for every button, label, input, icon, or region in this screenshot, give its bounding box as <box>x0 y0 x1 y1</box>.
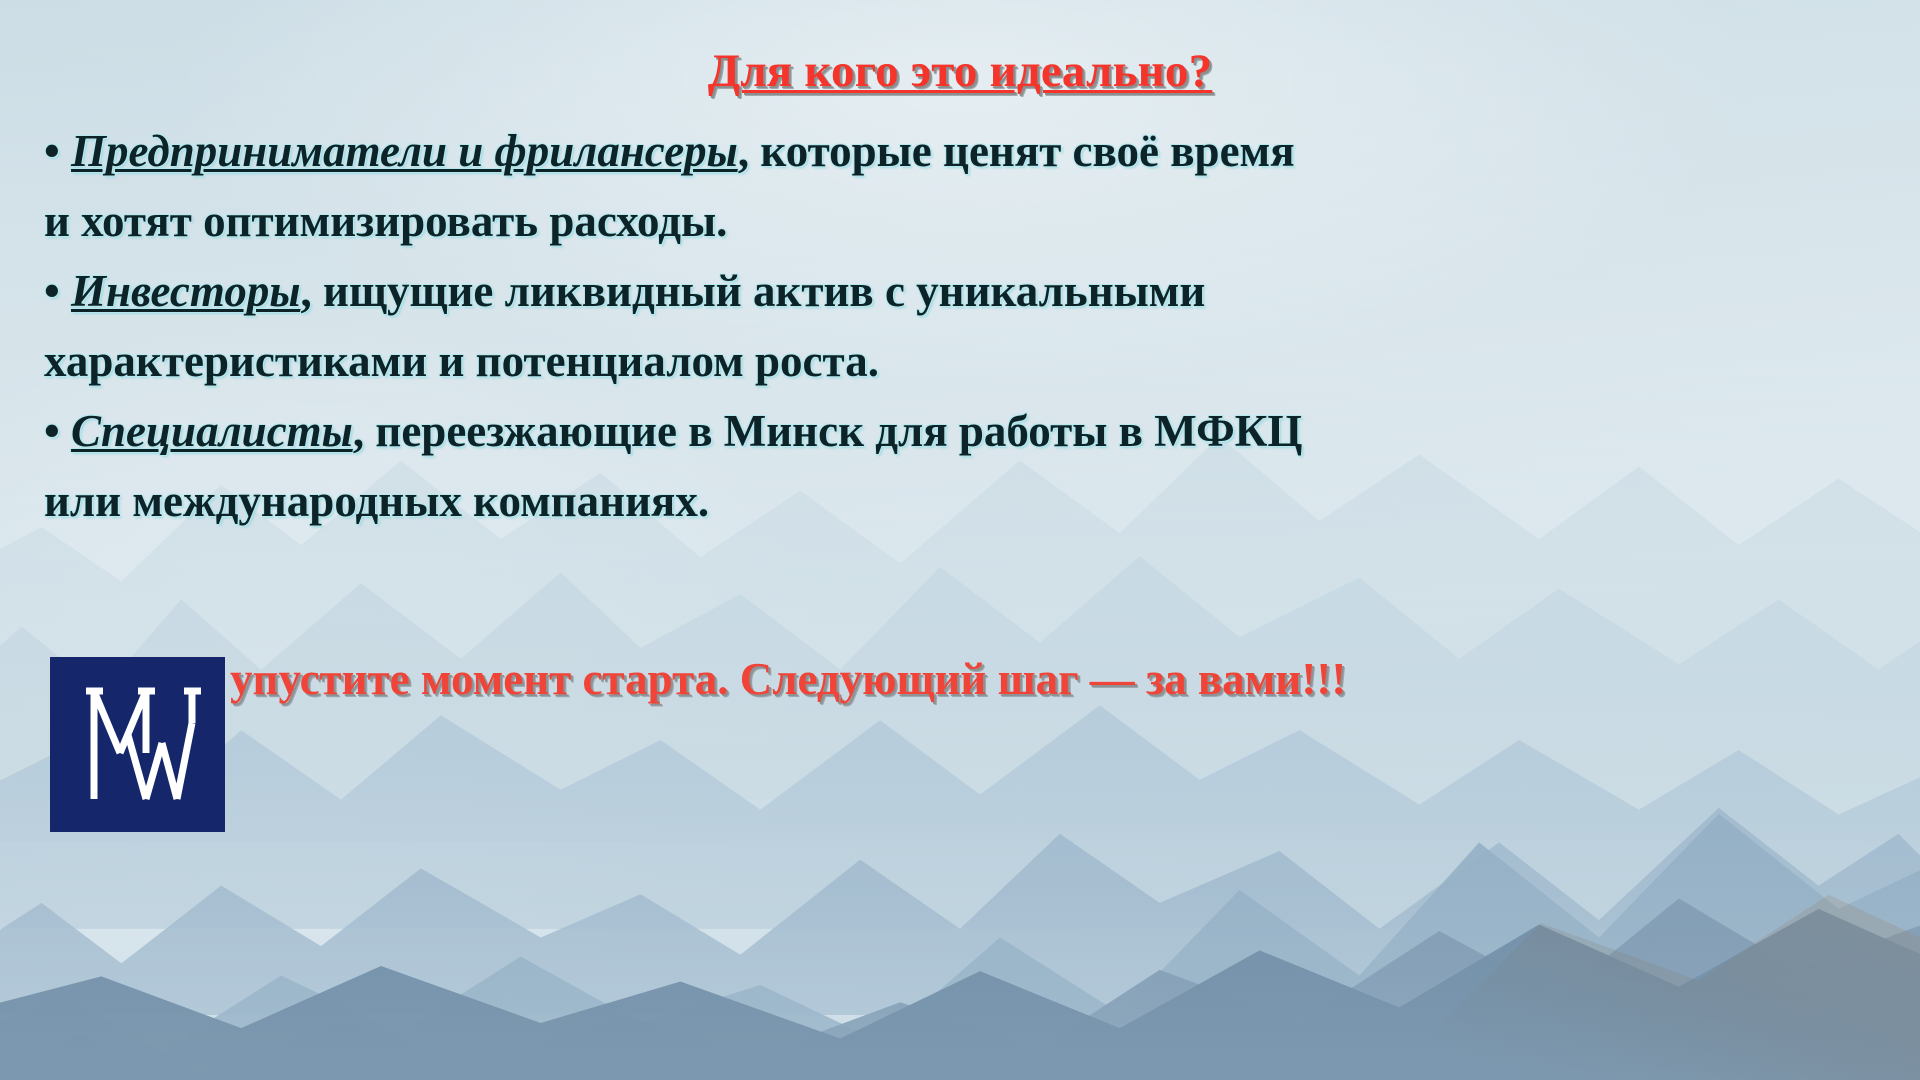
list-item: • Предприниматели и фрилансеры, которые … <box>44 116 1516 186</box>
bullet-marker-1: • <box>44 126 71 176</box>
bullet-continuation-2: характеристиками и потенциалом роста. <box>44 336 879 386</box>
slide-content: Для кого это идеально? • Предприниматели… <box>0 0 1920 1080</box>
page-title: Для кого это идеально? <box>0 44 1920 98</box>
mw-monogram-icon <box>50 657 225 832</box>
slide-canvas: Для кого это идеально? • Предприниматели… <box>0 0 1920 1080</box>
list-item-continuation: характеристиками и потенциалом роста. <box>44 326 1516 396</box>
brand-logo <box>50 657 225 832</box>
bullet-continuation-3: или международных компаниях. <box>44 476 709 526</box>
bullet-emphasis-3: Специалисты <box>71 406 353 456</box>
call-to-action: Не упустите момент старта. Следующий шаг… <box>0 653 1510 705</box>
bullet-marker-2: • <box>44 266 71 316</box>
bullet-marker-3: • <box>44 406 71 456</box>
call-to-action-text: Не упустите момент старта. Следующий шаг… <box>164 654 1346 704</box>
list-item-continuation: или международных компаниях. <box>44 466 1516 536</box>
bullet-list: • Предприниматели и фрилансеры, которые … <box>44 116 1516 536</box>
bullet-rest-2: , ищущие ликвидный актив с уникальными <box>301 266 1206 316</box>
bullet-continuation-1: и хотят оптимизировать расходы. <box>44 196 727 246</box>
bullet-emphasis-2: Инвесторы <box>71 266 301 316</box>
page-title-text: Для кого это идеально? <box>708 45 1213 97</box>
bullet-rest-3: , переезжающие в Минск для работы в МФКЦ <box>353 406 1302 456</box>
bullet-emphasis-1: Предприниматели и фрилансеры <box>71 126 738 176</box>
list-item: • Специалисты, переезжающие в Минск для … <box>44 396 1516 466</box>
bullet-rest-1: , которые ценят своё время <box>738 126 1295 176</box>
list-item-continuation: и хотят оптимизировать расходы. <box>44 186 1516 256</box>
list-item: • Инвесторы, ищущие ликвидный актив с ун… <box>44 256 1516 326</box>
